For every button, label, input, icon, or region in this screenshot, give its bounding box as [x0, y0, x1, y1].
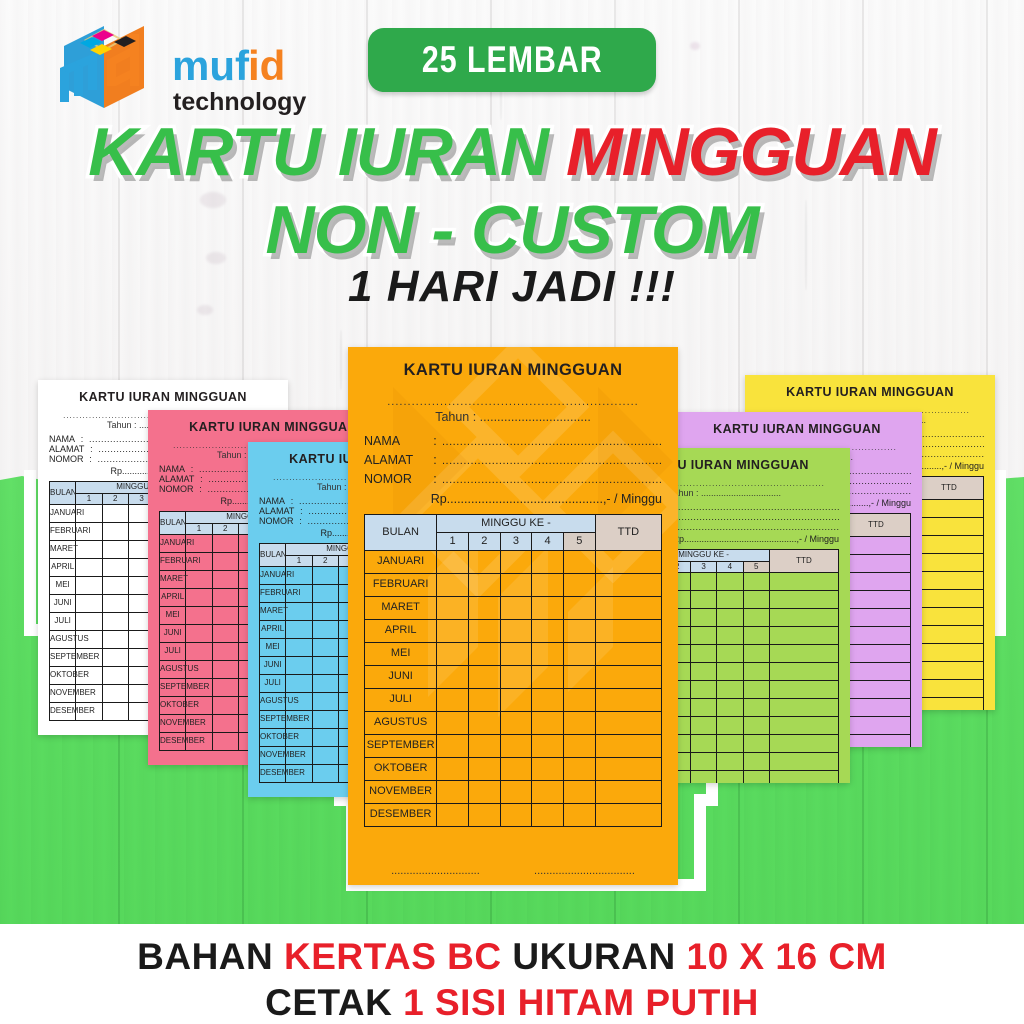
td-month: JUNI: [260, 657, 286, 675]
field-dots: ........................................…: [660, 512, 839, 522]
th-week: 1: [437, 533, 469, 551]
td-month: AGUSTUS: [50, 631, 76, 649]
tahun-label: Tahun :: [217, 450, 249, 460]
td-month: JULI: [365, 689, 437, 712]
th-ttd: TTD: [769, 550, 838, 573]
th-bulan: BULAN: [365, 515, 437, 551]
tahun-label: Tahun :: [435, 410, 479, 424]
brand-tagline: technology: [173, 88, 306, 116]
card-tahun: Tahun : ................................: [364, 410, 662, 424]
td-month: JANUARI: [50, 505, 76, 523]
td-month: MARET: [260, 603, 286, 621]
headline-block: KARTU IURAN MINGGUAN NON - CUSTOM: [0, 118, 1024, 264]
td-month: JUNI: [365, 666, 437, 689]
card-bottom-dots-right: .................................: [534, 865, 635, 877]
td-month: NOVEMBER: [365, 781, 437, 804]
td-month: AGUSTUS: [365, 712, 437, 735]
td-month: JANUARI: [160, 535, 186, 553]
field-label-alamat: ALAMAT: [259, 506, 294, 516]
th-minggu: MINGGU KE -: [437, 515, 595, 533]
td-month: NOVEMBER: [50, 685, 76, 703]
td-month: SEPTEMBER: [365, 735, 437, 758]
field-colon: :: [285, 496, 299, 506]
td-month: AGUSTUS: [260, 693, 286, 711]
td-month: DESEMBER: [365, 804, 437, 827]
td-month: JANUARI: [365, 551, 437, 574]
field-dots: ........................................…: [442, 474, 662, 486]
td-month: MEI: [50, 577, 76, 595]
td-month: JANUARI: [260, 567, 286, 585]
td-month: JULI: [260, 675, 286, 693]
td-month: SEPTEMBER: [160, 679, 186, 697]
td-month: APRIL: [160, 589, 186, 607]
td-month: AGUSTUS: [160, 661, 186, 679]
field-label-nama: NAMA: [259, 496, 285, 506]
td-month: SEPTEMBER: [50, 649, 76, 667]
th-week: 5: [563, 533, 595, 551]
th-week: 4: [532, 533, 564, 551]
th-week: 2: [212, 523, 238, 535]
footer-line-1: BAHAN KERTAS BC UKURAN 10 X 16 CM: [0, 924, 1024, 978]
field-label-nama: NAMA: [49, 434, 75, 444]
field-colon: :: [428, 472, 442, 486]
td-month: MEI: [365, 643, 437, 666]
field-label-nomor: NOMOR: [49, 454, 84, 464]
field-dots: ........................................…: [660, 522, 840, 532]
td-month: MARET: [160, 571, 186, 589]
th-bulan: BULAN: [260, 544, 286, 567]
td-month: OKTOBER: [50, 667, 76, 685]
card-table: BULAN MINGGU KE - TTD 1 2 3 4 5 JANUARI …: [364, 514, 662, 827]
td-month: MEI: [160, 607, 186, 625]
tahun-label: Tahun :: [107, 420, 139, 430]
td-month: JULI: [50, 613, 76, 631]
field-colon: :: [194, 474, 208, 484]
card-dotline: ........................................…: [364, 396, 662, 408]
th-week: 3: [500, 533, 532, 551]
field-colon: :: [294, 516, 308, 526]
lembar-badge-label: 25 LEMBAR: [422, 39, 603, 81]
th-week: 4: [717, 561, 743, 573]
poster-canvas: KARTU IURAN MINGGUAN ...................…: [0, 0, 1024, 1024]
card-bottom-dots-row: ............................. ..........…: [364, 865, 662, 877]
td-month: SEPTEMBER: [260, 711, 286, 729]
th-week: 2: [102, 493, 128, 505]
tahun-dots: ................................: [480, 410, 591, 424]
field-label-nomor: NOMOR: [364, 472, 428, 486]
th-week: 3: [690, 561, 716, 573]
field-label-alamat: ALAMAT: [159, 474, 194, 484]
td-month: NOVEMBER: [260, 747, 286, 765]
field-label-nama: NAMA: [364, 434, 428, 448]
footer-block: BAHAN KERTAS BC UKURAN 10 X 16 CM CETAK …: [0, 924, 1024, 1024]
td-month: DESEMBER: [50, 703, 76, 721]
headline-line1-red: MINGGUAN: [566, 114, 936, 190]
td-month: OKTOBER: [260, 729, 286, 747]
field-colon: :: [428, 434, 442, 448]
headline-line-3: 1 HARI JADI !!!: [0, 262, 1024, 312]
brand-name-part1: muf: [172, 42, 250, 89]
field-dots: ........................................…: [442, 455, 662, 467]
tahun-dots: ................................: [701, 488, 781, 498]
field-colon: :: [84, 454, 98, 464]
td-month: NOVEMBER: [160, 715, 186, 733]
th-week: 1: [186, 523, 212, 535]
footer-line1-d: 10 X 16 CM: [687, 936, 887, 977]
brand-name-part2: id: [248, 42, 285, 89]
card-bottom-dots-left: .............................: [391, 865, 480, 877]
field-colon: :: [428, 453, 442, 467]
field-label-alamat: ALAMAT: [49, 444, 84, 454]
field-label-alamat: ALAMAT: [364, 453, 428, 467]
footer-line1-a: BAHAN: [137, 936, 284, 977]
card-title: KARTU IURAN MINGGUAN: [683, 422, 911, 436]
footer-line1-b: KERTAS BC: [284, 936, 502, 977]
headline-line-2: NON - CUSTOM: [0, 196, 1024, 264]
card-title: KARTU IURAN MINGGUAN: [364, 361, 662, 380]
td-month: OKTOBER: [160, 697, 186, 715]
lembar-badge[interactable]: 25 LEMBAR: [368, 28, 656, 92]
th-week: 1: [286, 555, 312, 567]
brand-logo: muf id technology: [52, 26, 342, 122]
th-ttd: TTD: [914, 477, 983, 500]
field-colon: :: [294, 506, 308, 516]
headline-line-1: KARTU IURAN MINGGUAN: [0, 118, 1024, 186]
td-month: APRIL: [365, 620, 437, 643]
field-label-nomor: NOMOR: [259, 516, 294, 526]
th-week: 5: [743, 561, 769, 573]
td-month: DESEMBER: [160, 733, 186, 751]
field-colon: :: [75, 434, 89, 444]
td-month: JUNI: [160, 625, 186, 643]
td-month: APRIL: [260, 621, 286, 639]
td-month: FEBRUARI: [260, 585, 286, 603]
field-colon: :: [194, 484, 208, 494]
td-month: OKTOBER: [365, 758, 437, 781]
th-week: 1: [76, 493, 102, 505]
card-rp-line: Rp......................................…: [364, 492, 662, 506]
field-dots: ........................................…: [651, 502, 839, 512]
field-label-nama: NAMA: [159, 464, 185, 474]
td-month: MEI: [260, 639, 286, 657]
td-month: FEBRUARI: [50, 523, 76, 541]
sample-card-orange-main[interactable]: KARTU IURAN MINGGUAN ...................…: [348, 347, 678, 885]
card-title: KARTU IURAN MINGGUAN: [49, 390, 277, 404]
td-month: FEBRUARI: [160, 553, 186, 571]
field-label-nomor: NOMOR: [159, 484, 194, 494]
td-month: MARET: [365, 597, 437, 620]
field-colon: :: [185, 464, 199, 474]
card-title: KARTU IURAN MINGGUAN: [756, 385, 984, 399]
td-month: MARET: [50, 541, 76, 559]
field-colon: :: [84, 444, 98, 454]
footer-line2-a: CETAK: [265, 982, 403, 1023]
card-fields: NAMA:...................................…: [364, 434, 662, 486]
td-month: JUNI: [50, 595, 76, 613]
td-month: DESEMBER: [260, 765, 286, 783]
headline-line1-green: KARTU IURAN: [88, 114, 566, 190]
td-month: FEBRUARI: [365, 574, 437, 597]
th-bulan: BULAN: [50, 482, 76, 505]
th-week: 2: [312, 555, 338, 567]
th-week: 2: [468, 533, 500, 551]
th-ttd: TTD: [841, 514, 910, 537]
field-dots: ........................................…: [442, 436, 662, 448]
tahun-label: Tahun :: [317, 482, 349, 492]
td-month: APRIL: [50, 559, 76, 577]
footer-line1-c: UKURAN: [502, 936, 687, 977]
td-month: JULI: [160, 643, 186, 661]
th-bulan: BULAN: [160, 512, 186, 535]
th-ttd: TTD: [595, 515, 661, 551]
footer-line-2: CETAK 1 SISI HITAM PUTIH: [0, 978, 1024, 1024]
footer-line2-b: 1 SISI HITAM PUTIH: [403, 982, 759, 1023]
